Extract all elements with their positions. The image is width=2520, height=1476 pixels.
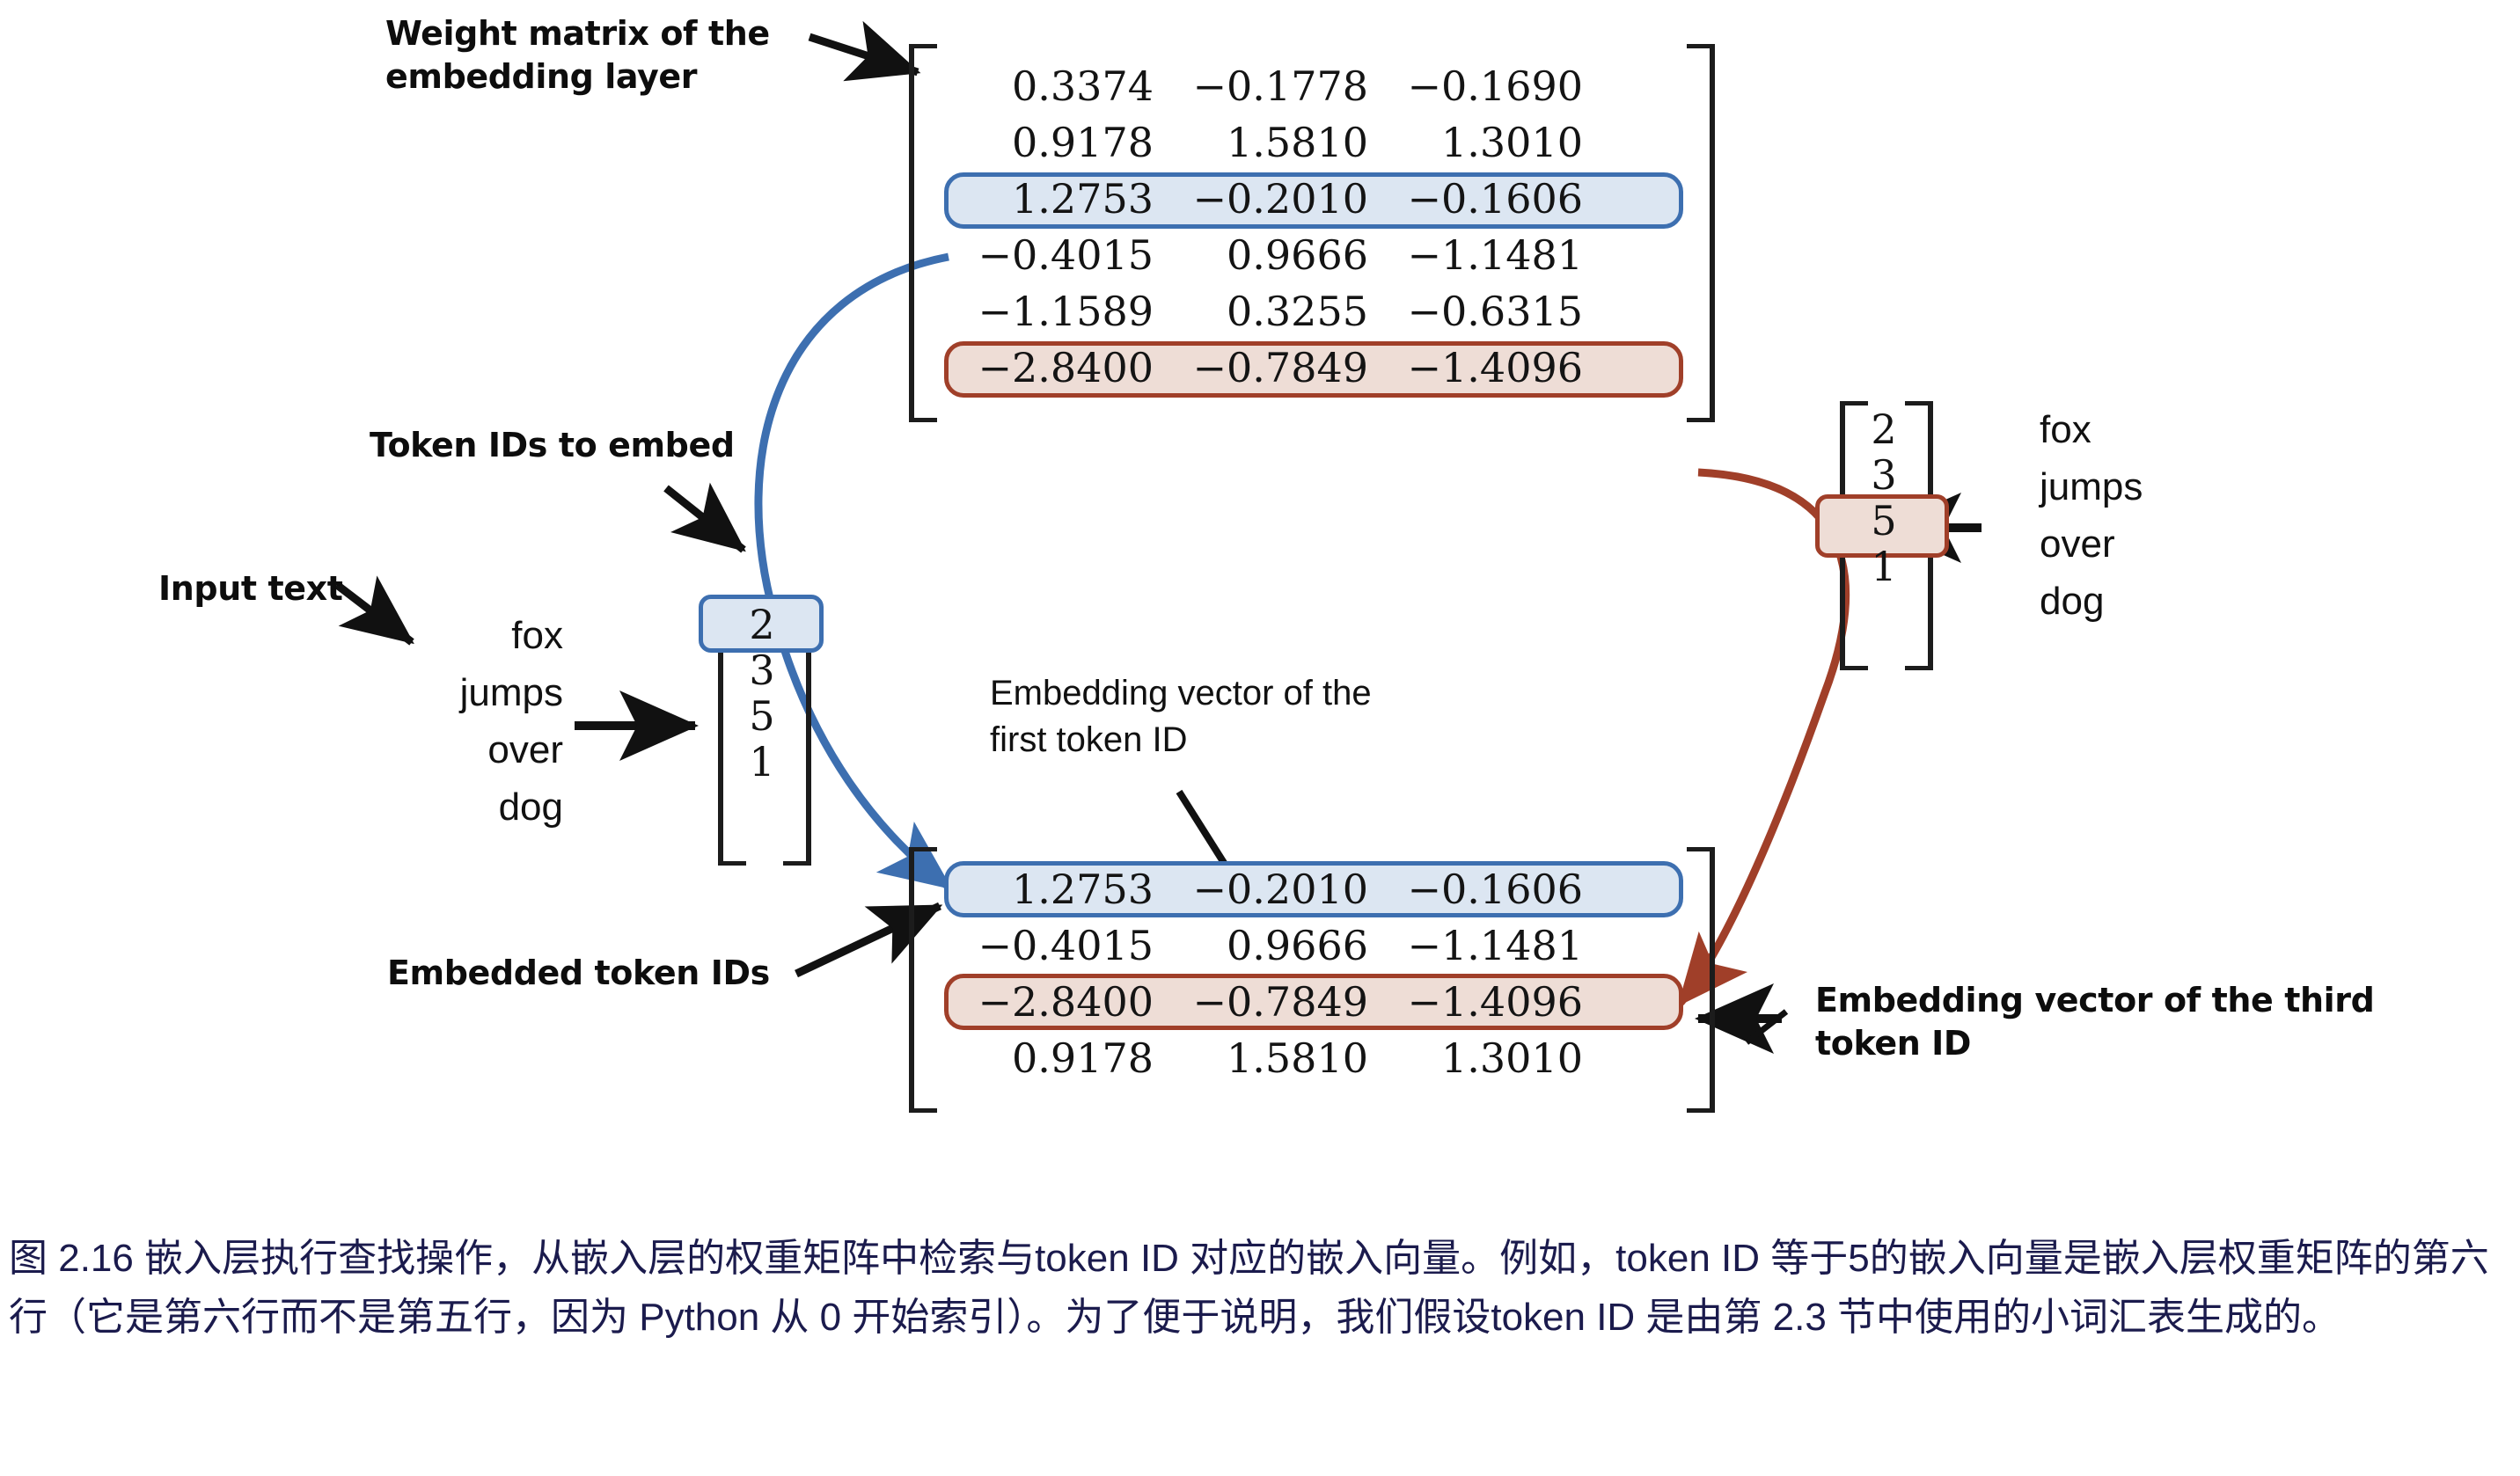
right-word: jumps — [2040, 458, 2304, 515]
token-id-entry: 1 — [723, 739, 801, 785]
matrix-cell: −0.1690 — [1379, 62, 1593, 110]
matrix-cell: −0.4015 — [949, 922, 1164, 969]
right-words: fox jumps over dog — [2040, 401, 2304, 630]
weight-matrix-rows: 0.3374 −0.1778 −0.1690 0.9178 1.5810 1.3… — [949, 58, 1593, 396]
figure-canvas: Weight matrix of the embedding layer Tok… — [0, 0, 2520, 1476]
matrix-cell: −1.1481 — [1379, 231, 1593, 279]
weight-matrix: 0.3374 −0.1778 −0.1690 0.9178 1.5810 1.3… — [937, 55, 1729, 442]
matrix-cell: 1.5810 — [1164, 119, 1379, 166]
matrix-row: −0.4015 0.9666 −1.1481 — [949, 917, 1593, 974]
input-text-words: fox jumps over dog — [352, 607, 563, 836]
matrix-cell: −1.4096 — [1379, 978, 1593, 1026]
arrow-weight-matrix — [809, 37, 918, 72]
input-word: over — [352, 721, 563, 778]
input-word: fox — [352, 607, 563, 664]
figure-caption: 图 2.16 嵌入层执行查找操作，从嵌入层的权重矩阵中检索与token ID 对… — [9, 1230, 2511, 1348]
matrix-cell: 0.9666 — [1164, 231, 1379, 279]
matrix-cell: 1.2753 — [949, 175, 1164, 223]
matrix-cell: −0.1778 — [1164, 62, 1379, 110]
matrix-row: −2.8400 −0.7849 −1.4096 — [949, 974, 1593, 1030]
matrix-row: 0.9178 1.5810 1.3010 — [949, 1030, 1593, 1086]
bracket-right — [1687, 44, 1715, 422]
matrix-row: 1.2753 −0.2010 −0.1606 — [949, 171, 1593, 227]
matrix-cell: 0.3255 — [1164, 288, 1379, 335]
input-word: jumps — [352, 664, 563, 721]
matrix-cell: −0.6315 — [1379, 288, 1593, 335]
matrix-cell: −0.1606 — [1379, 175, 1593, 223]
matrix-row: −2.8400 −0.7849 −1.4096 — [949, 340, 1593, 396]
leader-embedding-vector-third — [1747, 1012, 1786, 1042]
matrix-row: 1.2753 −0.2010 −0.1606 — [949, 861, 1593, 917]
matrix-cell: −0.4015 — [949, 231, 1164, 279]
matrix-cell: −2.8400 — [949, 344, 1164, 391]
matrix-cell: 1.3010 — [1379, 1034, 1593, 1082]
token-ids-vector: 2 3 5 1 — [704, 591, 818, 873]
matrix-cell: −0.7849 — [1164, 978, 1379, 1026]
arrow-token-ids-to-embed — [666, 488, 744, 550]
matrix-cell: −0.1606 — [1379, 866, 1593, 913]
right-word: over — [2040, 515, 2304, 573]
matrix-row: 0.9178 1.5810 1.3010 — [949, 114, 1593, 171]
label-weight-matrix: Weight matrix of the embedding layer — [385, 12, 799, 99]
right-word: fox — [2040, 401, 2304, 458]
right-token-ids-values: 2 3 5 1 — [1845, 406, 1923, 589]
output-matrix-rows: 1.2753 −0.2010 −0.1606 −0.4015 0.9666 −1… — [949, 861, 1593, 1086]
right-token-ids-vector: 2 3 5 1 — [1826, 396, 1940, 677]
label-input-text: Input text — [158, 567, 449, 610]
token-id-entry: 3 — [723, 647, 801, 693]
matrix-row: −0.4015 0.9666 −1.1481 — [949, 227, 1593, 283]
token-ids-values: 2 3 5 1 — [723, 602, 801, 785]
token-id-entry: 1 — [1845, 544, 1923, 589]
matrix-row: −1.1589 0.3255 −0.6315 — [949, 283, 1593, 340]
label-embedded-token-ids: Embedded token IDs — [387, 952, 880, 995]
matrix-cell: −1.1481 — [1379, 922, 1593, 969]
label-embedding-vector-first: Embedding vector of the first token ID — [990, 670, 1553, 764]
bracket-left — [909, 44, 937, 422]
input-word: dog — [352, 778, 563, 836]
matrix-cell: 0.9178 — [949, 1034, 1164, 1082]
label-embedding-vector-third: Embedding vector of the third token ID — [1815, 979, 2431, 1066]
matrix-row: 0.3374 −0.1778 −0.1690 — [949, 58, 1593, 114]
bracket-right — [1687, 847, 1715, 1113]
label-token-ids-to-embed: Token IDs to embed — [370, 424, 827, 467]
token-id-entry: 3 — [1845, 452, 1923, 498]
matrix-cell: 0.3374 — [949, 62, 1164, 110]
matrix-cell: −1.4096 — [1379, 344, 1593, 391]
token-id-entry: 5 — [1845, 498, 1923, 544]
matrix-cell: 1.2753 — [949, 866, 1164, 913]
matrix-cell: −2.8400 — [949, 978, 1164, 1026]
matrix-cell: −0.2010 — [1164, 175, 1379, 223]
bracket-left — [909, 847, 937, 1113]
matrix-cell: 1.5810 — [1164, 1034, 1379, 1082]
output-matrix: 1.2753 −0.2010 −0.1606 −0.4015 0.9666 −1… — [937, 858, 1729, 1122]
token-id-entry: 2 — [723, 602, 801, 647]
matrix-cell: −0.2010 — [1164, 866, 1379, 913]
right-word: dog — [2040, 573, 2304, 630]
token-id-entry: 2 — [1845, 406, 1923, 452]
matrix-cell: 1.3010 — [1379, 119, 1593, 166]
matrix-cell: 0.9178 — [949, 119, 1164, 166]
matrix-cell: −1.1589 — [949, 288, 1164, 335]
matrix-cell: −0.7849 — [1164, 344, 1379, 391]
matrix-cell: 0.9666 — [1164, 922, 1379, 969]
token-id-entry: 5 — [723, 693, 801, 739]
